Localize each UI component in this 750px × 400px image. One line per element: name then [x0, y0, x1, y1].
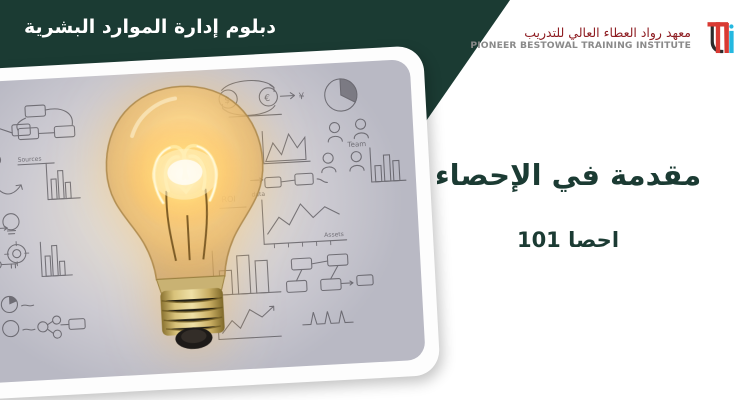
photo-card-frame: Sources: [0, 45, 441, 400]
lightbulb-photo: Sources: [0, 59, 426, 384]
institute-name-arabic: معهد رواد العطاء العالي للتدريب: [524, 26, 691, 39]
lightbulb-icon: [71, 60, 302, 371]
program-title: دبلوم إدارة الموارد البشرية: [0, 16, 300, 40]
presentation-slide: دبلوم إدارة الموارد البشرية معهد رواد ال…: [0, 0, 750, 400]
institute-logo-text: معهد رواد العطاء العالي للتدريب PIONEER …: [470, 26, 691, 51]
institute-monogram-icon: [698, 18, 736, 58]
course-title: مقدمة في الإحصاء: [408, 158, 728, 193]
course-code: احصا 101: [408, 228, 728, 253]
svg-text:¥: ¥: [298, 92, 305, 102]
institute-logo: معهد رواد العطاء العالي للتدريب PIONEER …: [470, 18, 736, 58]
svg-text:Team: Team: [346, 139, 366, 149]
institute-name-english: PIONEER BESTOWAL TRAINING INSTITUTE: [470, 41, 691, 51]
svg-text:Sources: Sources: [18, 156, 42, 164]
svg-text:Assets: Assets: [324, 231, 344, 239]
